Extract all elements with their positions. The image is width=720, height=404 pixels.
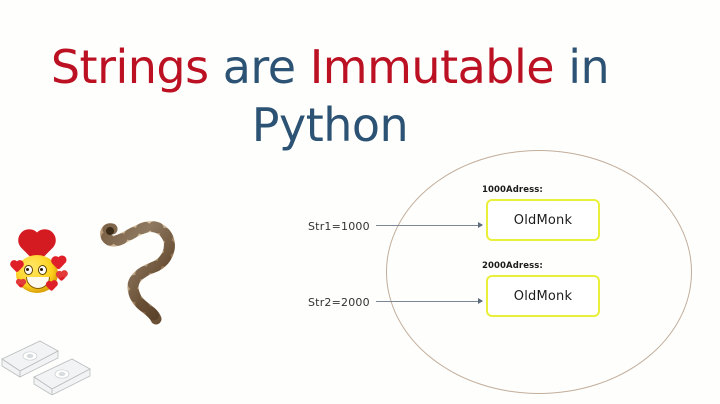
address-label-2000: 2000Adress:	[482, 261, 543, 271]
snake-photo	[98, 215, 184, 325]
title-word-in: in	[568, 40, 609, 94]
heart-icon-small-3	[57, 272, 67, 282]
heart-eyes-emoji	[12, 237, 70, 293]
memory-box-1000: OldMonk	[486, 199, 600, 241]
arrow-head-icon	[478, 298, 483, 304]
address-label-1000: 1000Adress:	[482, 185, 543, 195]
memory-box-2000: OldMonk	[486, 275, 600, 317]
page-title: Strings are Immutable in Python	[0, 38, 660, 154]
title-word-are: are	[223, 40, 296, 94]
reference-label-str2: Str2=2000	[308, 296, 370, 309]
slide-canvas: Strings are Immutable in Python	[0, 0, 720, 404]
reference-label-str1: Str1=1000	[308, 220, 370, 233]
title-word-strings: Strings	[51, 40, 209, 94]
arrow-head-icon	[478, 222, 483, 228]
money-stack	[0, 325, 92, 395]
arrow-str1-to-object	[376, 220, 482, 230]
emoji-eye-left	[24, 265, 33, 275]
arrow-str2-to-object	[376, 296, 482, 306]
collage-graphics: PythonTutorial Free!!!	[0, 215, 300, 404]
memory-diagram: Str1=1000 1000Adress: OldMonk Str2=2000 …	[290, 140, 720, 404]
title-word-immutable: Immutable	[310, 40, 554, 94]
emoji-eye-right	[38, 265, 47, 275]
